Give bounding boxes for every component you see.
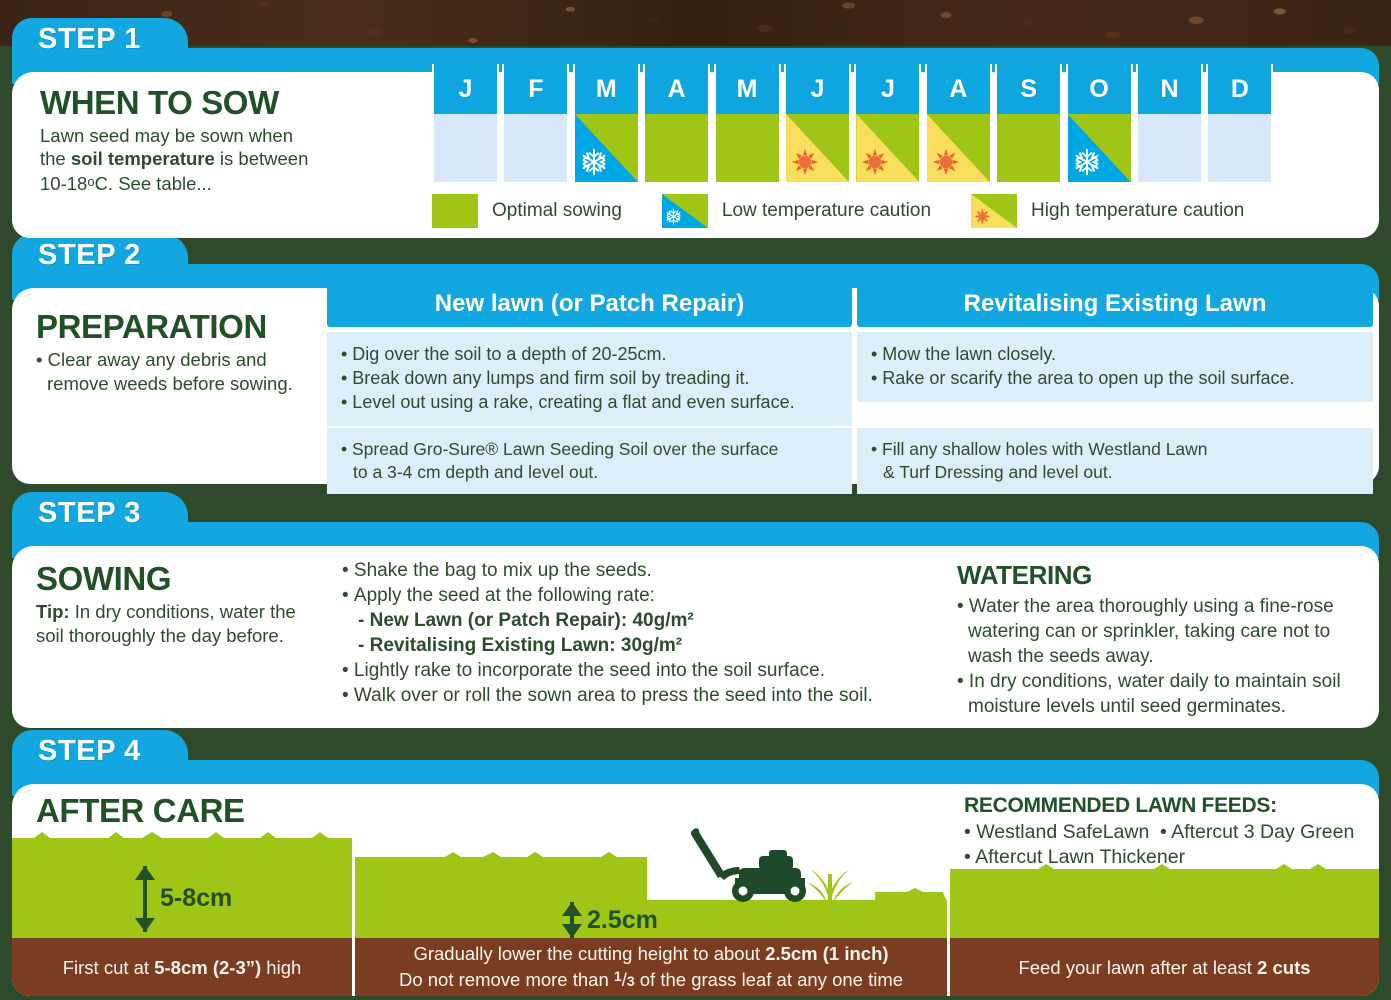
sun-icon	[861, 148, 889, 176]
sun-icon	[791, 148, 819, 176]
subtitle-soil-temperature: soil temperature	[71, 148, 215, 169]
degree-symbol: o	[87, 174, 94, 189]
revitalising-heading: Revitalising Existing Lawn	[857, 283, 1373, 327]
sowing-bullet: • Apply the seed at the following rate:	[342, 583, 932, 608]
grass-blades-icon	[12, 832, 352, 854]
grass-blades-right-icon	[875, 888, 947, 902]
preparation-bullets: • Clear away any debris and remove weeds…	[36, 348, 326, 396]
step1-card: WHEN TO SOW Lawn seed may be sown when t…	[12, 72, 1379, 238]
sowing-tip: Tip: In dry conditions, water the soil t…	[36, 600, 316, 648]
sowing-bullet: • Walk over or roll the sown area to pre…	[342, 683, 932, 708]
new-lawn-note-line1: Spread Gro-Sure® Lawn Seeding Soil over …	[352, 439, 778, 459]
calendar-cell-empty	[1136, 114, 1203, 182]
new-lawn-bullet: • Level out using a rake, creating a fla…	[341, 390, 840, 414]
tip-label: Tip:	[36, 601, 70, 622]
first-cut-caption-a: First cut at	[63, 957, 155, 978]
new-lawn-bullet: • Break down any lumps and firm soil by …	[341, 366, 840, 390]
new-lawn-note: • Spread Gro-Sure® Lawn Seeding Soil ove…	[327, 428, 852, 494]
revitalising-bullet: • Mow the lawn closely.	[871, 342, 1361, 366]
legend-swatch-blue	[662, 194, 708, 228]
step1-tab-label: STEP 1	[12, 23, 141, 56]
calendar-column-8[interactable]: S	[995, 64, 1062, 182]
sowing-bullets: • Shake the bag to mix up the seeds.• Ap…	[342, 558, 932, 708]
snowflake-icon	[580, 148, 608, 176]
sowing-rate: - Revitalising Existing Lawn: 30g/m²	[342, 633, 932, 658]
calendar-cell-empty	[432, 114, 499, 182]
revitalising-column: Revitalising Existing Lawn • Mow the law…	[857, 283, 1373, 402]
calendar-cell-green	[643, 114, 710, 182]
step2-card: PREPARATION • Clear away any debris and …	[12, 288, 1379, 484]
sun-icon	[932, 148, 960, 176]
calendar-cell-split-blue	[573, 114, 640, 182]
new-lawn-bullets: • Dig over the soil to a depth of 20-25c…	[327, 332, 852, 426]
step3-tab-label: STEP 3	[12, 497, 141, 530]
feed-item: • Aftercut Lawn Thickener	[964, 845, 1185, 870]
first-cut-caption-c: high	[261, 957, 301, 978]
height-arrow-5-8cm	[134, 866, 156, 932]
step3-tab: STEP 3	[12, 492, 188, 534]
snowflake-icon	[665, 208, 682, 225]
calendar-month-header: J	[432, 64, 499, 114]
soil-texture-background	[0, 0, 1391, 46]
panel-divider-1	[352, 784, 355, 996]
new-lawn-column: New lawn (or Patch Repair) • Dig over th…	[327, 283, 852, 426]
grass-blades-left-icon	[355, 852, 647, 872]
calendar-column-1[interactable]: F	[502, 64, 569, 182]
lower-height-caption: Gradually lower the cutting height to ab…	[355, 938, 947, 996]
when-to-sow-subtitle: Lawn seed may be sown when the soil temp…	[40, 124, 380, 195]
sowing-bullet: • Shake the bag to mix up the seeds.	[342, 558, 932, 583]
new-lawn-note-line2: to a 3-4 cm depth and level out.	[341, 461, 840, 484]
height-arrow-2-5cm	[561, 902, 583, 938]
preparation-bullet: • Clear away any debris and remove weeds…	[36, 348, 326, 396]
calendar-column-0[interactable]: J	[432, 64, 499, 182]
step4-tab: STEP 4	[12, 730, 188, 772]
fraction-denominator: 3	[627, 973, 635, 989]
recommended-feeds-title: RECOMMENDED LAWN FEEDS:	[964, 794, 1277, 818]
grass-block-feeds	[950, 880, 1379, 938]
sowing-calendar: JFMAMJJASOND	[432, 64, 1277, 182]
calendar-column-6[interactable]: J	[854, 64, 921, 182]
calendar-month-header: M	[714, 64, 781, 114]
subtitle-line2-c: is between	[215, 148, 309, 169]
step1-tab: STEP 1	[12, 18, 188, 60]
calendar-month-header: N	[1136, 64, 1203, 114]
first-cut-caption-b: 5-8cm (2-3”)	[154, 957, 261, 978]
calendar-cell-green	[714, 114, 781, 182]
feed-caption-a: Feed your lawn after at least	[1018, 957, 1257, 978]
new-lawn-heading: New lawn (or Patch Repair)	[327, 283, 852, 327]
calendar-cell-empty	[502, 114, 569, 182]
sun-icon	[932, 148, 960, 176]
legend-item-1: Low temperature caution	[662, 194, 931, 228]
sun-icon	[974, 208, 991, 225]
calendar-month-header: J	[854, 64, 921, 114]
calendar-column-5[interactable]: J	[784, 64, 851, 182]
calendar-cell-split-yellow	[854, 114, 921, 182]
calendar-cell-split-yellow	[925, 114, 992, 182]
calendar-month-header: A	[925, 64, 992, 114]
revitalising-note-line1: Fill any shallow holes with Westland Law…	[882, 439, 1208, 459]
sowing-rate: - New Lawn (or Patch Repair): 40g/m²	[342, 608, 932, 633]
calendar-column-11[interactable]: D	[1206, 64, 1273, 182]
calendar-month-header: D	[1206, 64, 1273, 114]
watering-bullet: • Water the area thoroughly using a fine…	[957, 594, 1377, 669]
sun-icon	[791, 148, 819, 176]
snowflake-icon	[665, 208, 682, 225]
sun-icon	[861, 148, 889, 176]
legend-label: Optimal sowing	[492, 200, 622, 222]
subtitle-line3-b: C. See table...	[95, 173, 212, 194]
revitalising-note: • Fill any shallow holes with Westland L…	[857, 428, 1373, 494]
calendar-column-4[interactable]: M	[714, 64, 781, 182]
measure-label-2-5cm: 2.5cm	[587, 906, 658, 935]
calendar-column-2[interactable]: M	[573, 64, 640, 182]
legend-item-2: High temperature caution	[971, 194, 1244, 228]
calendar-cell-split-blue	[1066, 114, 1133, 182]
step4-tab-label: STEP 4	[12, 735, 141, 768]
caption2-line2-a: Do not remove more than	[399, 969, 614, 990]
sowing-bullet: • Lightly rake to incorporate the seed i…	[342, 658, 932, 683]
watering-bullet: • In dry conditions, water daily to main…	[957, 669, 1377, 719]
step4-card: 5-8cm First cut at 5-8cm (2-3”) high	[12, 784, 1379, 996]
revitalising-bullets: • Mow the lawn closely.• Rake or scarify…	[857, 332, 1373, 402]
feed-caption: Feed your lawn after at least 2 cuts	[950, 938, 1379, 996]
step3-card: SOWING Tip: In dry conditions, water the…	[12, 546, 1379, 728]
calendar-month-header: A	[643, 64, 710, 114]
lawn-mower-icon	[677, 826, 807, 902]
legend-label: High temperature caution	[1031, 200, 1244, 222]
calendar-month-header: O	[1066, 64, 1133, 114]
caption2-line1-b: 2.5cm (1 inch)	[765, 943, 888, 964]
step2-tab-label: STEP 2	[12, 239, 141, 272]
after-care-panel-lower-height: 2.5cm Gradually lower the cutting height…	[355, 784, 947, 996]
sun-icon	[974, 208, 991, 225]
feed-caption-b: 2 cuts	[1257, 957, 1310, 978]
revitalising-bullet: • Rake or scarify the area to open up th…	[871, 366, 1361, 390]
subtitle-line2-a: the	[40, 148, 71, 169]
snowflake-icon	[580, 148, 608, 176]
after-care-panel-feeds: RECOMMENDED LAWN FEEDS: • Westland SafeL…	[950, 784, 1379, 996]
caption2-line1-a: Gradually lower the cutting height to ab…	[413, 943, 765, 964]
fraction-numerator: 1	[614, 968, 622, 984]
after-care-title: AFTER CARE	[36, 792, 245, 830]
calendar-month-header: F	[502, 64, 569, 114]
measure-label-5-8cm: 5-8cm	[160, 884, 232, 913]
watering-bullets: • Water the area thoroughly using a fine…	[957, 594, 1377, 719]
feed-item: • Aftercut 3 Day Green	[1160, 820, 1354, 845]
calendar-month-header: M	[573, 64, 640, 114]
watering-title: WATERING	[957, 560, 1092, 591]
calendar-cell-split-yellow	[784, 114, 851, 182]
calendar-month-header: S	[995, 64, 1062, 114]
subtitle-line1: Lawn seed may be sown when	[40, 125, 293, 146]
snowflake-icon	[1073, 148, 1101, 176]
step2-tab: STEP 2	[12, 234, 188, 276]
calendar-cell-green	[995, 114, 1062, 182]
recommended-feeds-list: • Westland SafeLawn• Aftercut 3 Day Gree…	[964, 820, 1374, 870]
legend-item-0: Optimal sowing	[432, 194, 622, 228]
calendar-month-header: J	[784, 64, 851, 114]
revitalising-note-line2: & Turf Dressing and level out.	[871, 461, 1361, 484]
when-to-sow-title: WHEN TO SOW	[40, 84, 279, 122]
legend-swatch-yellow	[971, 194, 1017, 228]
feed-item: • Westland SafeLawn	[964, 820, 1160, 845]
calendar-column-3[interactable]: A	[643, 64, 710, 182]
first-cut-caption: First cut at 5-8cm (2-3”) high	[12, 938, 352, 996]
preparation-title: PREPARATION	[36, 308, 267, 346]
calendar-legend: Optimal sowingLow temperature cautionHig…	[432, 194, 1284, 228]
calendar-cell-empty	[1206, 114, 1273, 182]
calendar-column-10[interactable]: N	[1136, 64, 1203, 182]
new-lawn-bullet: • Dig over the soil to a depth of 20-25c…	[341, 342, 840, 366]
calendar-column-9[interactable]: O	[1066, 64, 1133, 182]
sowing-title: SOWING	[36, 560, 171, 598]
calendar-column-7[interactable]: A	[925, 64, 992, 182]
snowflake-icon	[1073, 148, 1101, 176]
panel-divider-2	[947, 784, 950, 996]
caption2-line2-b: of the grass leaf at any one time	[635, 969, 903, 990]
tip-text: In dry conditions, water the soil thorou…	[36, 601, 296, 646]
subtitle-temp-range: 10-18	[40, 173, 87, 194]
legend-label: Low temperature caution	[722, 200, 931, 222]
grass-tuft-icon	[805, 866, 855, 900]
legend-swatch-green	[432, 194, 478, 228]
